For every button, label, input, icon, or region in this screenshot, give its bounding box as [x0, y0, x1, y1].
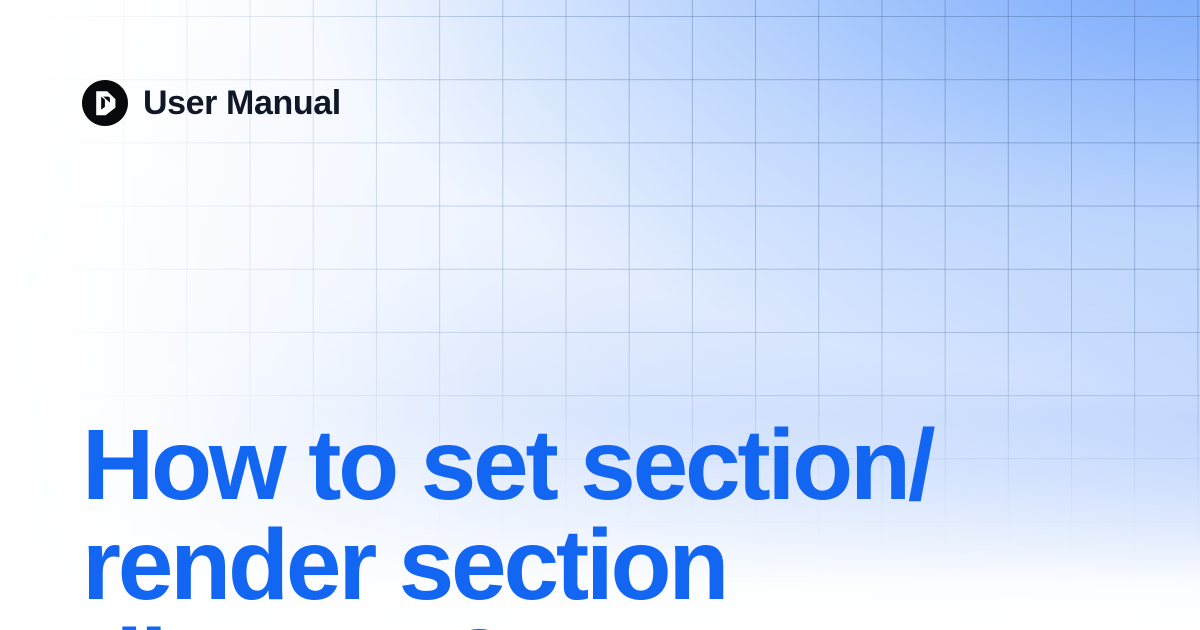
brand-lockup: User Manual: [82, 80, 341, 126]
diagram-logo-icon: [82, 80, 128, 126]
page-title: How to set section/ render section diagr…: [82, 415, 1142, 630]
brand-name-label: User Manual: [143, 86, 341, 120]
og-banner: User Manual How to set section/ render s…: [0, 0, 1200, 630]
